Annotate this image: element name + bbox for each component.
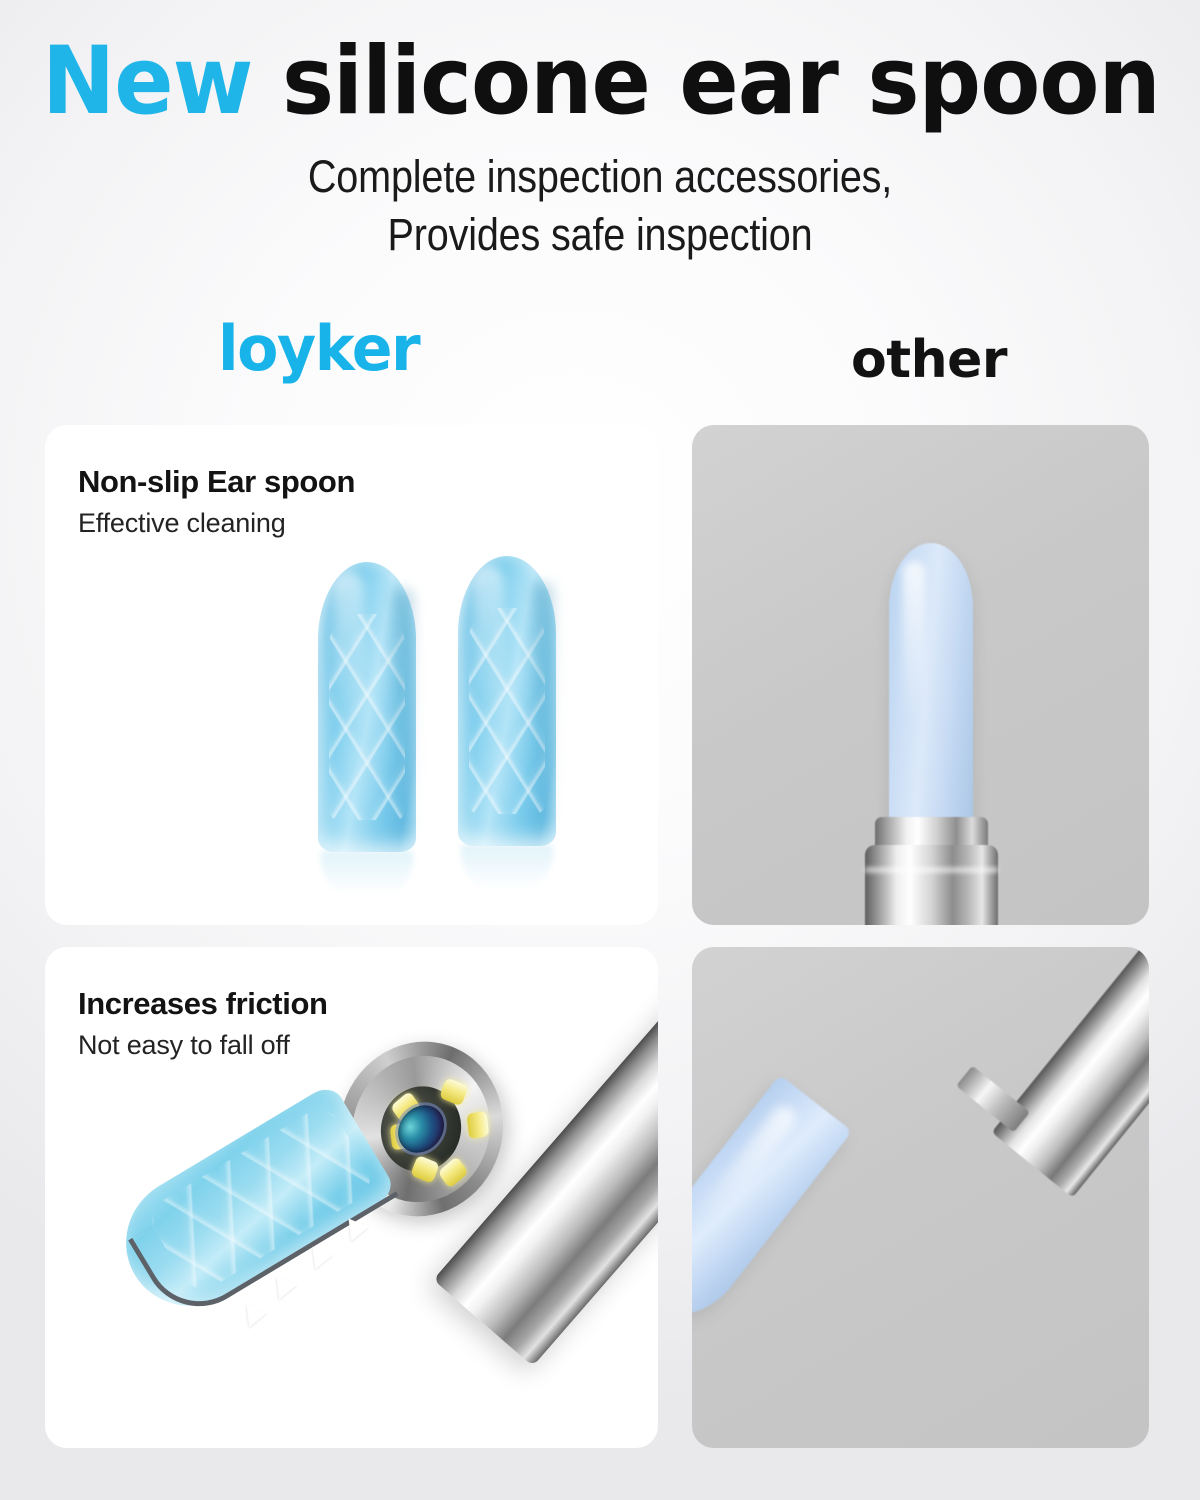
other-plain-spoon-art (692, 947, 1149, 1448)
friction-arrow-icon (305, 1247, 333, 1274)
plain-silicone-tip (889, 543, 973, 833)
silicone-tip-textured-left (318, 562, 416, 852)
chrome-barrel (865, 845, 998, 925)
led-light-icon (467, 1111, 490, 1139)
card-other-plain-tip (692, 425, 1149, 925)
card-title: Non-slip Ear spoon (78, 465, 355, 499)
card-subtitle: Not easy to fall off (78, 1030, 328, 1061)
card-other-plain-spoon (692, 947, 1149, 1448)
led-light-icon (439, 1077, 469, 1106)
highlight-gloss (334, 572, 364, 782)
plain-silicone-spoon (692, 1075, 852, 1335)
shadow-edge (532, 582, 554, 832)
product-feature-page: New silicone ear spoon Complete inspecti… (0, 0, 1200, 1500)
highlight-gloss (474, 566, 504, 776)
friction-arrow-icon (269, 1277, 297, 1304)
silicone-tip-textured-right (458, 556, 556, 846)
card-text-block: Increases friction Not easy to fall off (78, 987, 328, 1061)
friction-tick-mark (271, 1330, 289, 1360)
gripped-silicone-spoon-art (168, 1178, 468, 1428)
friction-tick-mark (305, 1302, 323, 1332)
shadow-edge (392, 588, 414, 838)
chrome-barrel (992, 947, 1149, 1198)
tip-reflection-icon (461, 845, 553, 897)
card-subtitle: Effective cleaning (78, 508, 355, 539)
card-text-block: Non-slip Ear spoon Effective cleaning (78, 465, 355, 539)
friction-arrow-icon (239, 1305, 267, 1332)
tip-reflection-icon (321, 851, 413, 903)
other-plain-tip-art (692, 425, 1149, 925)
card-title: Increases friction (78, 987, 328, 1021)
friction-tick-mark (373, 1246, 391, 1276)
friction-tick-mark (339, 1274, 357, 1304)
